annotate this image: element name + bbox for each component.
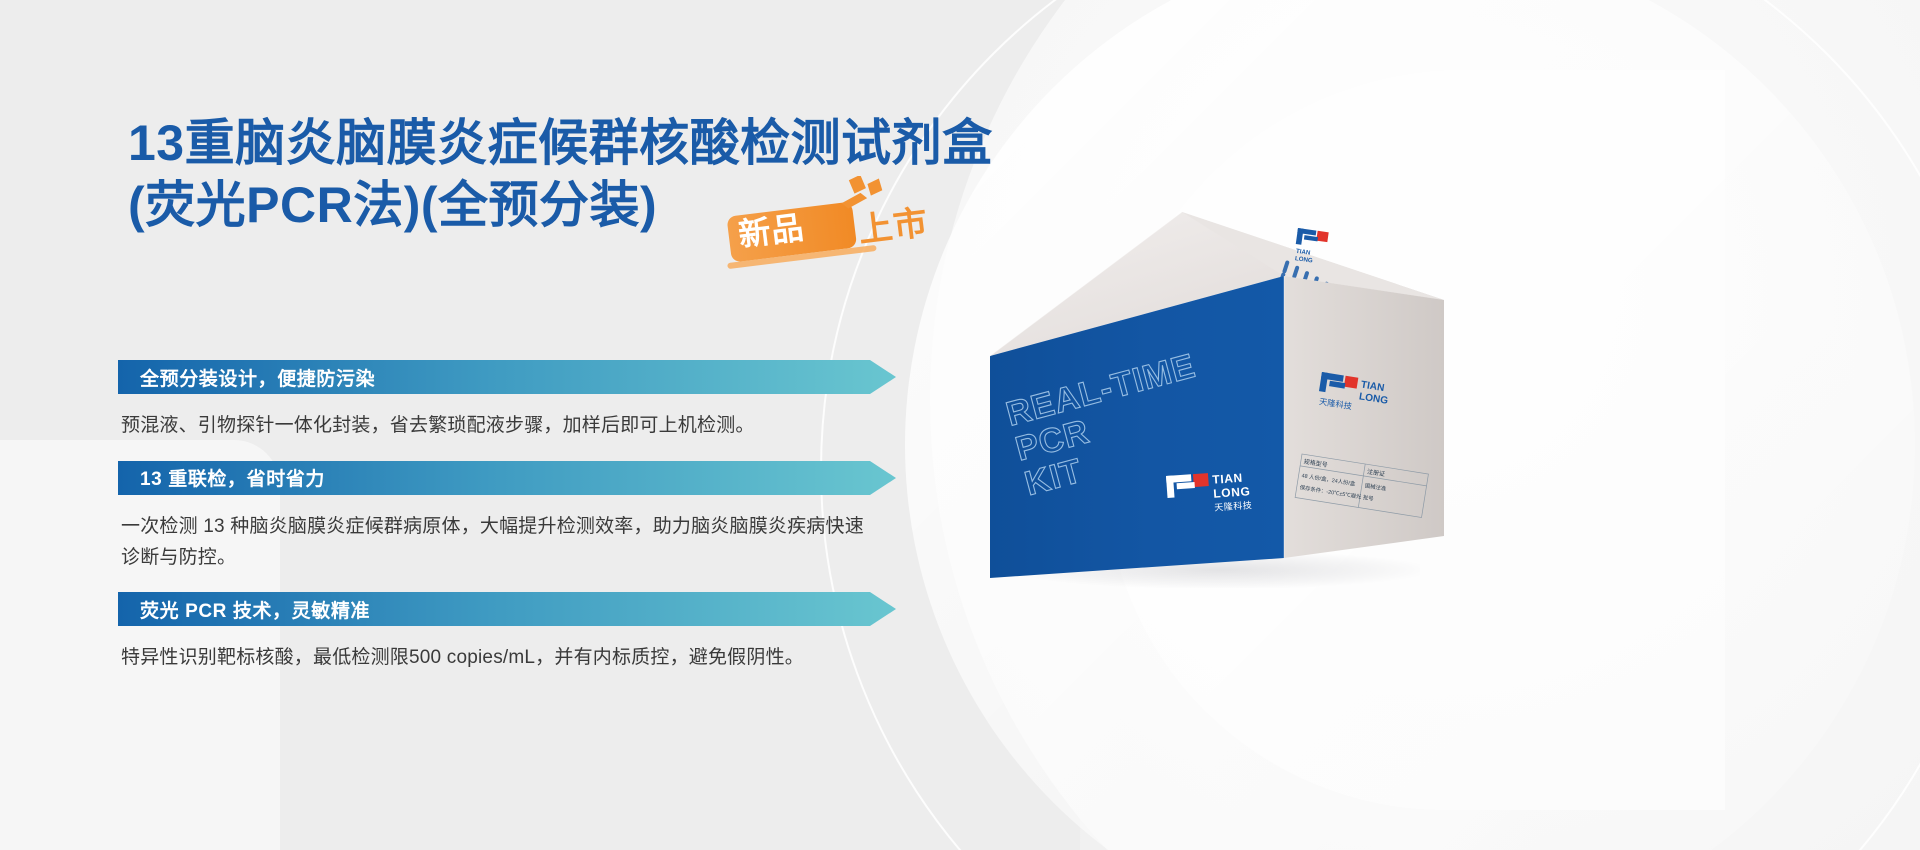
banner-canvas: 13重脑炎脑膜炎症候群核酸检测试剂盒 (荧光PCR法)(全预分装) 新品 — [0, 0, 1920, 850]
box-front-face: REAL-TIME PCR KIT TIAN LONG 天隆科技 — [990, 276, 1284, 578]
sparkle-arrow-icon — [838, 176, 884, 209]
box-side-face: TIAN LONG 天隆科技 规格型号 注册证 48 人份/盒，24人份/盒 保… — [1284, 276, 1444, 558]
feature-bar-label: 全预分装设计，便捷防污染 — [140, 356, 375, 398]
feature-item: 13 重联检，省时省力 一次检测 13 种脑炎脑膜炎症候群病原体，大幅提升检测效… — [118, 457, 918, 574]
badge-text-secondary: 上市 — [856, 203, 930, 250]
new-product-badge: 新品 上市 — [724, 176, 948, 272]
feature-item: 荧光 PCR 技术，灵敏精准 特异性识别靶标核酸，最低检测限500 copies… — [118, 588, 918, 674]
feature-description: 预混液、引物探针一体化封装，省去繁琐配液步骤，加样后即可上机检测。 — [118, 411, 888, 442]
feature-description: 一次检测 13 种脑炎脑膜炎症候群病原体，大幅提升检测效率，助力脑炎脑膜炎疾病快… — [118, 512, 878, 574]
feature-bar: 荧光 PCR 技术，灵敏精准 — [118, 588, 918, 630]
feature-bar-label: 荧光 PCR 技术，灵敏精准 — [140, 588, 370, 630]
feature-bar: 13 重联检，省时省力 — [118, 457, 918, 499]
feature-bar: 全预分装设计，便捷防污染 — [118, 356, 918, 398]
svg-text:LONG: LONG — [1213, 484, 1251, 501]
product-box-image: TIAN LONG — [966, 176, 1466, 596]
feature-item: 全预分装设计，便捷防污染 预混液、引物探针一体化封装，省去繁琐配液步骤，加样后即… — [118, 356, 918, 442]
feature-bar-label: 13 重联检，省时省力 — [140, 457, 325, 499]
feature-list: 全预分装设计，便捷防污染 预混液、引物探针一体化封装，省去繁琐配液步骤，加样后即… — [118, 356, 918, 674]
title-line-1: 13重脑炎脑膜炎症候群核酸检测试剂盒 — [128, 112, 993, 174]
feature-description: 特异性识别靶标核酸，最低检测限500 copies/mL，并有内标质控，避免假阴… — [118, 643, 888, 674]
